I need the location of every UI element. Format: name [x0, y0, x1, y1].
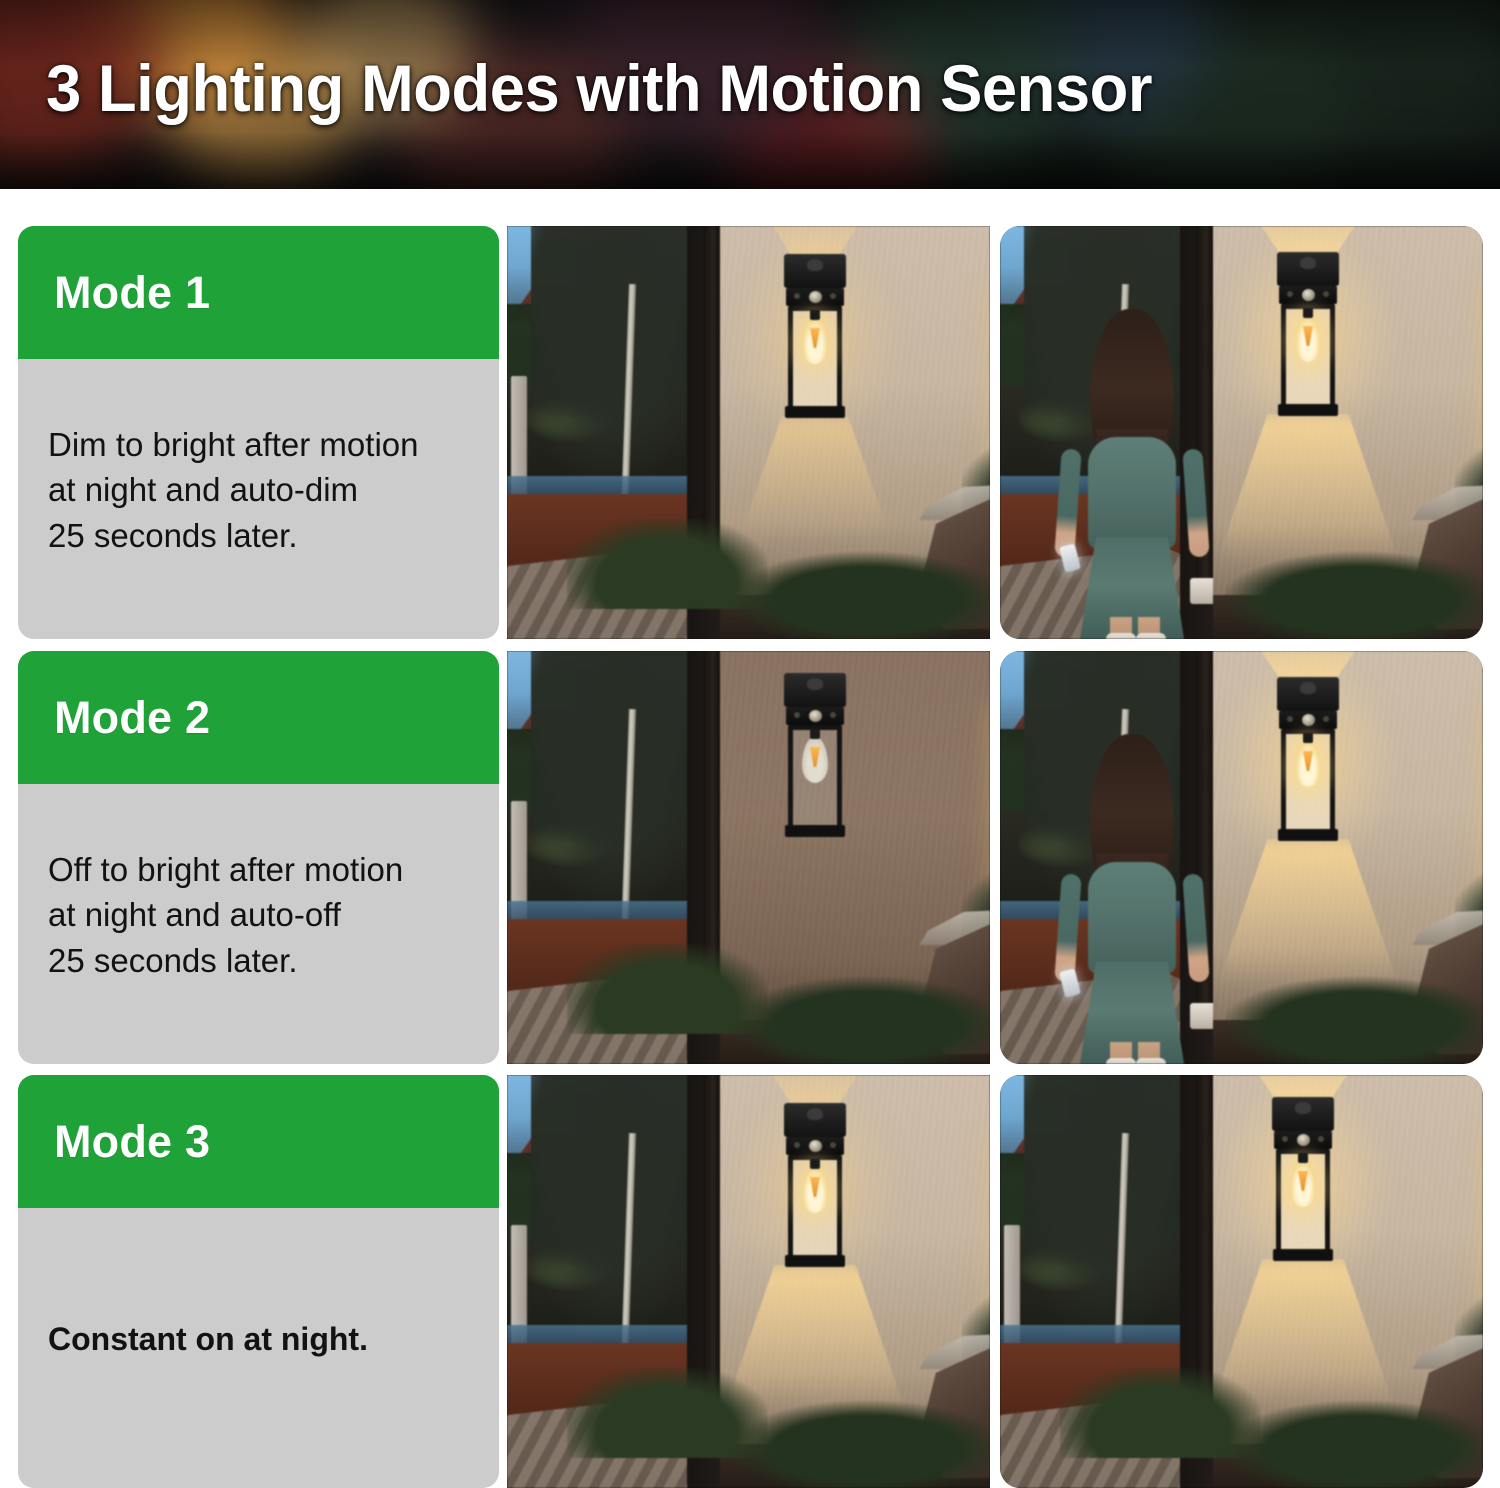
bulb-filament — [1303, 751, 1313, 771]
mode-3-description: Constant on at night. — [48, 1317, 368, 1361]
sensor-led-left-icon — [1287, 291, 1293, 297]
lamp-dome-icon — [1295, 1102, 1311, 1114]
low-shrub-bed — [1225, 1391, 1483, 1488]
person-arm-left — [1054, 873, 1081, 982]
bulb-filament — [1303, 326, 1313, 346]
sensor-led-right-icon — [830, 712, 836, 718]
bulb-filament — [1298, 1171, 1308, 1191]
bulb-filament — [810, 1177, 820, 1197]
lantern-base — [1273, 1249, 1333, 1261]
bulb-socket — [1303, 733, 1313, 743]
mode-2-description: Off to bright after motion at night and … — [48, 847, 403, 984]
mode-1-photo-left — [507, 226, 990, 639]
bulb-filament — [810, 747, 820, 767]
mode-card-3[interactable]: Mode 3 Constant on at night. — [18, 1075, 499, 1488]
low-shrub-bed — [732, 967, 990, 1064]
lamp-top-housing — [1272, 1097, 1334, 1131]
night-house-scene-constant-on-close — [1000, 1075, 1483, 1488]
lamp-dome-icon — [1300, 257, 1316, 269]
sensor-led-right-icon — [830, 293, 836, 299]
mode-card-2-body: Off to bright after motion at night and … — [18, 784, 499, 1064]
sensor-led-left-icon — [794, 1142, 800, 1148]
lantern-base — [785, 406, 845, 418]
lamp-top-housing — [1277, 677, 1339, 711]
motion-sensor-icon — [809, 1140, 822, 1152]
mode-3-photo-left — [507, 1075, 990, 1488]
mode-1-description: Dim to bright after motion at night and … — [48, 422, 418, 559]
mode-card-2-header: Mode 2 — [18, 651, 499, 784]
mode-2-desc-line-1: Off to bright after motion — [48, 847, 403, 893]
person-shoe-right — [1136, 633, 1166, 639]
person-arm-right — [1182, 448, 1209, 557]
mode-card-2[interactable]: Mode 2 Off to bright after motion at nig… — [18, 651, 499, 1064]
page-title: 3 Lighting Modes with Motion Sensor — [46, 50, 1390, 126]
ornamental-grass — [1060, 1368, 1260, 1458]
person-dress-top — [1088, 437, 1176, 549]
lantern-base — [785, 1255, 845, 1267]
motion-sensor-bar — [786, 707, 844, 725]
mode-card-1[interactable]: Mode 1 Dim to bright after motion at nig… — [18, 226, 499, 639]
mode-card-1-body: Dim to bright after motion at night and … — [18, 359, 499, 639]
mode-row-3: Mode 3 Constant on at night. — [0, 1075, 1500, 1488]
motion-sensor-icon — [1302, 289, 1315, 301]
ornamental-grass — [567, 1368, 767, 1458]
sensor-led-left-icon — [794, 293, 800, 299]
motion-sensor-icon — [1297, 1134, 1310, 1146]
person-dress-skirt — [1079, 962, 1185, 1064]
lamp-dome-icon — [1300, 682, 1316, 694]
mode-row-1: Mode 1 Dim to bright after motion at nig… — [0, 226, 1500, 639]
mode-1-desc-line-2: at night and auto-dim — [48, 467, 418, 513]
mode-1-desc-line-3: 25 seconds later. — [48, 513, 418, 559]
motion-sensor-bar — [786, 1137, 844, 1155]
motion-sensor-bar — [1279, 286, 1337, 304]
edison-bulb — [1295, 741, 1321, 787]
lamp-dome-icon — [807, 259, 823, 271]
lantern-base — [1278, 404, 1338, 416]
mode-2-photo-left — [507, 651, 990, 1064]
edison-bulb — [802, 1167, 828, 1213]
lantern-base — [785, 825, 845, 837]
bulb-socket — [1298, 1153, 1308, 1163]
bulb-filament — [810, 328, 820, 348]
lamp-top-housing — [1277, 252, 1339, 286]
lamp-top-housing — [784, 673, 846, 707]
person-shoe-right — [1136, 1058, 1166, 1064]
low-shrub-bed — [1225, 542, 1483, 639]
product-infographic: 3 Lighting Modes with Motion Sensor Mode… — [0, 0, 1500, 1485]
person-walking — [1052, 734, 1212, 1064]
person-arm-left — [1054, 448, 1081, 557]
mode-card-3-header: Mode 3 — [18, 1075, 499, 1208]
motion-sensor-bar — [786, 288, 844, 306]
bulb-socket — [1303, 308, 1313, 318]
sensor-led-right-icon — [1323, 291, 1329, 297]
person-phone — [1059, 968, 1081, 997]
bulb-socket — [810, 310, 820, 320]
sensor-led-right-icon — [1323, 716, 1329, 722]
edison-bulb — [1290, 1161, 1316, 1207]
person-phone — [1059, 543, 1081, 572]
mode-1-desc-line-1: Dim to bright after motion — [48, 422, 418, 468]
mode-3-label: Mode 3 — [54, 1116, 210, 1168]
mode-1-label: Mode 1 — [54, 267, 210, 319]
mode-2-photo-right — [1000, 651, 1483, 1064]
night-house-scene-with-person — [1000, 651, 1483, 1064]
bulb-socket — [810, 1159, 820, 1169]
edison-bulb — [802, 737, 828, 783]
lamp-top-housing — [784, 254, 846, 288]
night-house-scene-lamp-off — [507, 651, 990, 1064]
mode-3-photo-right — [1000, 1075, 1483, 1488]
motion-sensor-icon — [809, 710, 822, 722]
sensor-led-left-icon — [1282, 1136, 1288, 1142]
lamp-dome-icon — [807, 678, 823, 690]
mode-card-1-header: Mode 1 — [18, 226, 499, 359]
mode-1-photo-right — [1000, 226, 1483, 639]
mode-2-desc-line-3: 25 seconds later. — [48, 938, 403, 984]
low-shrub-bed — [732, 542, 990, 639]
low-shrub-bed — [732, 1391, 990, 1488]
motion-sensor-icon — [809, 291, 822, 303]
person-arm-right — [1182, 873, 1209, 982]
motion-sensor-bar — [1274, 1131, 1332, 1149]
mode-2-label: Mode 2 — [54, 692, 210, 744]
lamp-dome-icon — [807, 1108, 823, 1120]
ornamental-grass — [567, 519, 767, 609]
person-dress-skirt — [1079, 537, 1185, 639]
mode-card-3-body: Constant on at night. — [18, 1208, 499, 1488]
sensor-led-left-icon — [794, 712, 800, 718]
person-shoe-left — [1106, 1058, 1136, 1064]
edison-bulb — [1295, 316, 1321, 362]
bulb-socket — [810, 729, 820, 739]
person-dress-top — [1088, 862, 1176, 974]
person-walking — [1052, 309, 1212, 639]
sensor-led-right-icon — [830, 1142, 836, 1148]
edison-bulb — [802, 318, 828, 364]
person-shoe-left — [1106, 633, 1136, 639]
mode-row-2: Mode 2 Off to bright after motion at nig… — [0, 651, 1500, 1064]
night-house-scene — [507, 226, 990, 639]
low-shrub-bed — [1225, 967, 1483, 1064]
header-banner: 3 Lighting Modes with Motion Sensor — [0, 0, 1500, 189]
night-house-scene-with-person — [1000, 226, 1483, 639]
mode-3-desc-line-1: Constant on at night. — [48, 1317, 368, 1361]
lamp-top-housing — [784, 1103, 846, 1137]
sensor-led-right-icon — [1318, 1136, 1324, 1142]
motion-sensor-icon — [1302, 714, 1315, 726]
lantern-base — [1278, 829, 1338, 841]
ornamental-grass — [567, 944, 767, 1034]
mode-2-desc-line-2: at night and auto-off — [48, 892, 403, 938]
sensor-led-left-icon — [1287, 716, 1293, 722]
motion-sensor-bar — [1279, 711, 1337, 729]
night-house-scene-constant-on — [507, 1075, 990, 1488]
